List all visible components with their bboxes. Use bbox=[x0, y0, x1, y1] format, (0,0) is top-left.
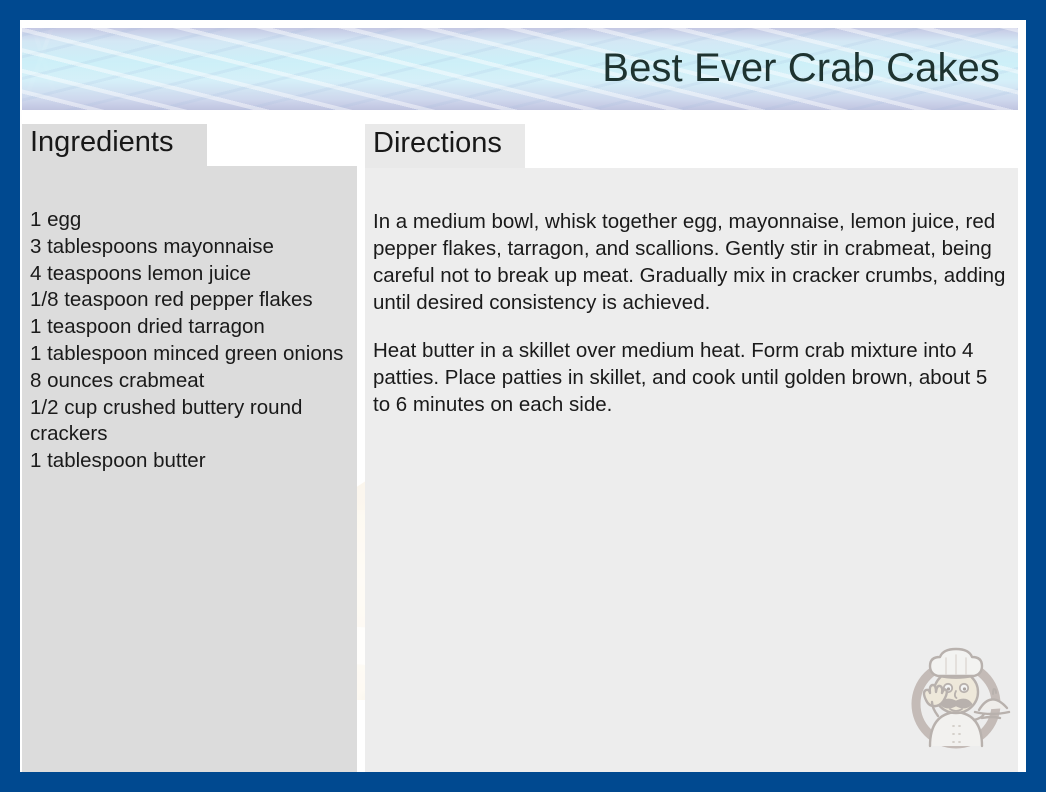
ingredients-tab: Ingredients bbox=[22, 124, 207, 166]
ingredient-item: 1 tablespoon butter bbox=[30, 448, 353, 475]
recipe-title: Best Ever Crab Cakes bbox=[602, 48, 1000, 88]
directions-tab: Directions bbox=[365, 124, 525, 168]
ingredient-item: 4 teaspoons lemon juice bbox=[30, 261, 353, 288]
ingredients-list: 1 egg3 tablespoons mayonnaise4 teaspoons… bbox=[30, 207, 353, 475]
header-banner: Best Ever Crab Cakes bbox=[22, 28, 1018, 110]
ingredient-item: 1 tablespoon minced green onions bbox=[30, 341, 353, 368]
direction-paragraph: In a medium bowl, whisk together egg, ma… bbox=[373, 208, 1008, 316]
ingredient-item: 1 teaspoon dried tarragon bbox=[30, 314, 353, 341]
ingredient-item: 1 egg bbox=[30, 207, 353, 234]
ingredient-item: 1/2 cup crushed buttery round crackers bbox=[30, 395, 353, 449]
direction-paragraph: Heat butter in a skillet over medium hea… bbox=[373, 337, 1008, 418]
directions-panel: In a medium bowl, whisk together egg, ma… bbox=[365, 168, 1018, 772]
ingredient-item: 8 ounces crabmeat bbox=[30, 368, 353, 395]
ingredients-panel: 1 egg3 tablespoons mayonnaise4 teaspoons… bbox=[22, 166, 357, 772]
directions-body: In a medium bowl, whisk together egg, ma… bbox=[373, 208, 1008, 418]
ingredient-item: 3 tablespoons mayonnaise bbox=[30, 234, 353, 261]
directions-heading: Directions bbox=[373, 129, 502, 158]
ingredients-heading: Ingredients bbox=[30, 128, 174, 157]
recipe-card: Best Ever Crab Cakes Ingredients 1 egg3 … bbox=[0, 0, 1046, 792]
ingredient-item: 1/8 teaspoon red pepper flakes bbox=[30, 287, 353, 314]
